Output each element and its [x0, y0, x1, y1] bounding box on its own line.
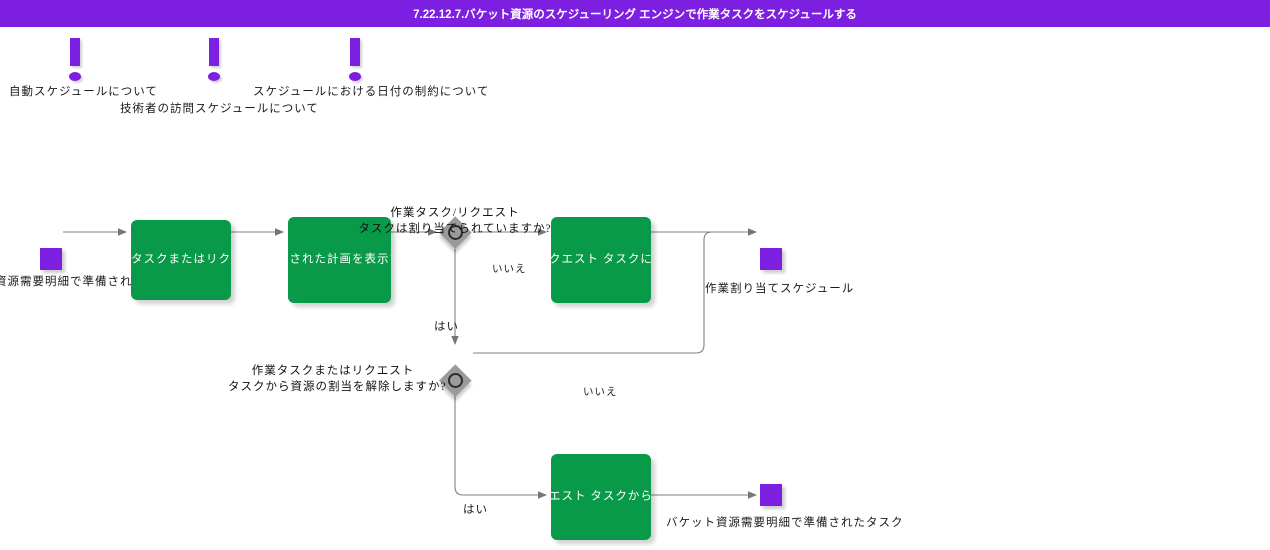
process-assign-resource-label: 作業工程またはリクエスト タスクに資源を割り当てる: [551, 252, 651, 269]
decision-is-assigned-yes-label: はい: [434, 318, 459, 334]
end-terminator-work-assignment[interactable]: [760, 248, 782, 270]
end-terminator-bucket-task-label: バケット資源需要明細で準備されたタスク: [666, 514, 904, 530]
decision-is-assigned-no-label: いいえ: [492, 261, 527, 276]
process-unassign-resource-label: 作業タスクまたはリクエスト タスクから資源の割当を解除する: [551, 489, 651, 506]
decision-unassign-question-line1: 作業タスクまたはリクエスト: [228, 363, 438, 379]
decision-unassign-yes-label: はい: [463, 501, 488, 517]
process-show-plan-label: 予定された計画を表示する: [288, 252, 391, 269]
decision-unassign-question: 作業タスクまたはリクエスト タスクから資源の割当を解除しますか?: [228, 363, 438, 395]
start-terminator[interactable]: [40, 248, 62, 270]
end-terminator-work-assignment-label: 作業割り当てスケジュール: [705, 280, 854, 296]
decision-unassign-no-label: いいえ: [583, 384, 618, 399]
title-bar: 7.22.12.7.バケット資源のスケジューリング エンジンで作業タスクをスケジ…: [0, 0, 1270, 27]
decision-is-assigned-question-line1: 作業タスク/リクエスト: [340, 205, 570, 221]
page-title: 7.22.12.7.バケット資源のスケジューリング エンジンで作業タスクをスケジ…: [413, 6, 857, 22]
decision-is-assigned-question: 作業タスク/リクエスト タスクは割り当てられていますか?: [340, 205, 570, 237]
process-unassign-resource[interactable]: 作業タスクまたはリクエスト タスクから資源の割当を解除する: [551, 454, 651, 540]
process-schedule-task[interactable]: スケジューリング エンジンで作業タスクまたはリクエスト タスクをスケジュールする: [131, 220, 231, 300]
flowchart-canvas: 自動スケジュールについて 技術者の訪問スケジュールについて スケジュールにおける…: [0, 27, 1270, 550]
decision-is-assigned-question-line2: タスクは割り当てられていますか?: [340, 221, 570, 237]
end-terminator-bucket-task[interactable]: [760, 484, 782, 506]
process-assign-resource[interactable]: 作業工程またはリクエスト タスクに資源を割り当てる: [551, 217, 651, 303]
process-schedule-task-label: スケジューリング エンジンで作業タスクまたはリクエスト タスクをスケジュールする: [131, 252, 231, 269]
decision-unassign-question-line2: タスクから資源の割当を解除しますか?: [228, 379, 438, 395]
